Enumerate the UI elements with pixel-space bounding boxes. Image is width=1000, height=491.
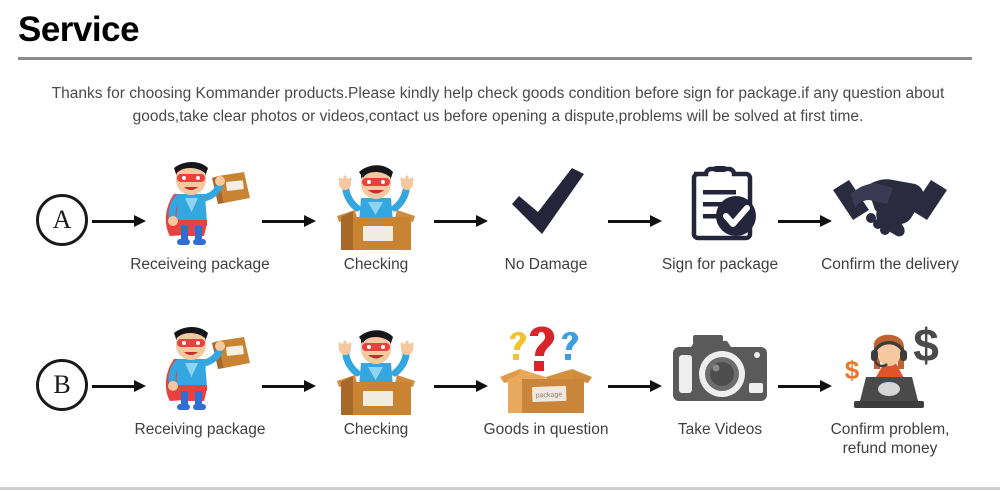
flow-row-b: B <box>0 325 1000 475</box>
step-b-5: $ $ <box>806 325 974 475</box>
step-label: Take Videos <box>626 420 814 439</box>
footer-divider <box>0 487 1000 490</box>
step-a-1: Receiveing package <box>116 160 284 310</box>
camera-icon <box>636 325 804 417</box>
service-info-panel: Service Thanks for choosing Kommander pr… <box>0 0 1000 491</box>
person-in-open-box-icon <box>292 160 460 252</box>
question-box-icon: package <box>462 325 630 417</box>
person-in-open-box-icon <box>292 325 460 417</box>
step-label: Sign for package <box>626 255 814 274</box>
step-b-1: Receiving package <box>116 325 284 475</box>
page-title: Service <box>18 8 139 52</box>
step-b-3: package Goods in question <box>462 325 630 475</box>
step-label: Receiving package <box>106 420 294 439</box>
step-label: Confirm the delivery <box>796 255 984 274</box>
svg-text:$: $ <box>913 325 939 371</box>
step-label: Checking <box>282 255 470 274</box>
svg-text:$: $ <box>845 355 860 385</box>
row-badge-a: A <box>36 194 88 246</box>
handshake-icon <box>806 160 974 252</box>
step-a-3: No Damage <box>462 160 630 310</box>
step-label: Receiveing package <box>106 255 294 274</box>
step-a-5: Confirm the delivery <box>806 160 974 310</box>
intro-paragraph: Thanks for choosing Kommander products.P… <box>22 82 974 128</box>
step-b-2: Checking <box>292 325 460 475</box>
support-agent-money-icon: $ $ <box>806 325 974 417</box>
step-a-2: Checking <box>292 160 460 310</box>
row-badge-b: B <box>36 359 88 411</box>
step-label: No Damage <box>452 255 640 274</box>
clipboard-check-icon <box>636 160 804 252</box>
title-divider <box>18 57 972 60</box>
flow-row-a: A <box>0 160 1000 310</box>
step-label: Goods in question <box>452 420 640 439</box>
svg-text:package: package <box>536 392 563 400</box>
superhero-holding-box-icon <box>116 325 284 417</box>
step-b-4: Take Videos <box>636 325 804 475</box>
step-a-4: Sign for package <box>636 160 804 310</box>
superhero-holding-box-icon <box>116 160 284 252</box>
step-label: Confirm problem, refund money <box>796 420 984 458</box>
checkmark-icon <box>462 160 630 252</box>
step-label: Checking <box>282 420 470 439</box>
